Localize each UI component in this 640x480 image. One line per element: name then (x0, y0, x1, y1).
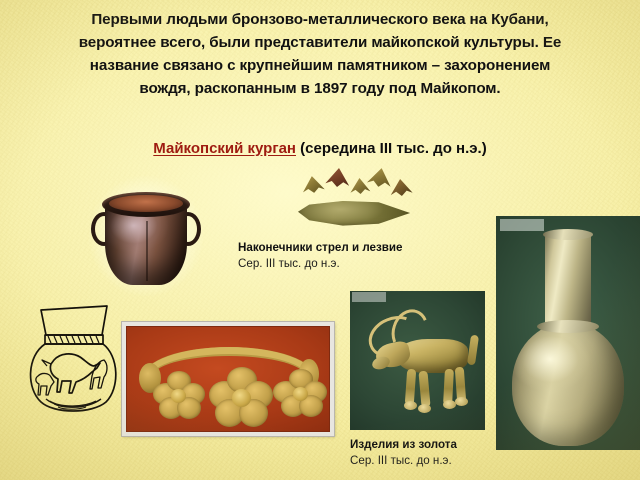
subtitle-link[interactable]: Майкопский курган (153, 140, 296, 157)
bull-hoof-4 (455, 397, 468, 406)
vessel-drawing-svg (24, 300, 124, 422)
diadem-rosette-left (151, 371, 205, 421)
stone-blade (298, 198, 410, 228)
diadem-backdrop (126, 326, 330, 432)
diadem-rosette-right (273, 369, 327, 419)
figure-gold-diadem (122, 322, 334, 436)
title-line-4: вождя, раскопанным в 1897 году под Майко… (18, 77, 622, 100)
jug-body (512, 322, 624, 446)
figure-gold-bull (350, 291, 485, 430)
page-title: Первыми людьми бронзово-металлического в… (18, 8, 622, 100)
bull-hoof-2 (418, 404, 431, 413)
caption-gold-items-title: Изделия из золота (350, 437, 457, 453)
caption-arrowheads: Наконечники стрел и лезвие Сер. III тыс.… (238, 240, 402, 271)
bull-tail (467, 335, 479, 366)
cauldron-interior (109, 195, 183, 212)
caption-gold-items-subtitle: Сер. III тыс. до н.э. (350, 453, 457, 469)
bull-leg-front-right (418, 371, 430, 408)
caption-arrowheads-title: Наконечники стрел и лезвие (238, 240, 402, 256)
jug-neck (545, 232, 591, 328)
subtitle: Майкопский курган (середина III тыс. до … (20, 140, 620, 157)
figure-arrowheads-and-blade (298, 168, 418, 236)
figure-vessel-line-drawing (24, 300, 124, 422)
subtitle-rest: (середина III тыс. до н.э.) (300, 140, 487, 157)
title-line-2: вероятнее всего, были представители майк… (18, 31, 622, 54)
arrowhead-3 (349, 177, 370, 194)
arrowhead-2 (325, 167, 351, 188)
figure-bronze-cauldron (93, 182, 199, 290)
arrowhead-1 (301, 175, 325, 195)
bull-photo-watermark (352, 292, 386, 302)
cauldron-seam (146, 221, 148, 281)
arrowhead-5 (389, 178, 413, 197)
bull-leg-front-left (405, 369, 416, 406)
figure-silver-jug (496, 216, 640, 450)
jug-collar (537, 320, 599, 333)
caption-arrowheads-subtitle: Сер. III тыс. до н.э. (238, 256, 402, 272)
slide-canvas: Первыми людьми бронзово-металлического в… (0, 0, 640, 480)
jug-photo-watermark (500, 219, 544, 231)
diadem-rosette-center (209, 367, 273, 429)
caption-gold-items: Изделия из золота Сер. III тыс. до н.э. (350, 437, 457, 468)
title-line-3: название связано с крупнейшим памятником… (18, 54, 622, 77)
bull-hoof-1 (404, 401, 417, 410)
jug-lip (543, 229, 593, 240)
arrowhead-4 (367, 166, 394, 189)
title-line-1: Первыми людьми бронзово-металлического в… (18, 8, 622, 31)
